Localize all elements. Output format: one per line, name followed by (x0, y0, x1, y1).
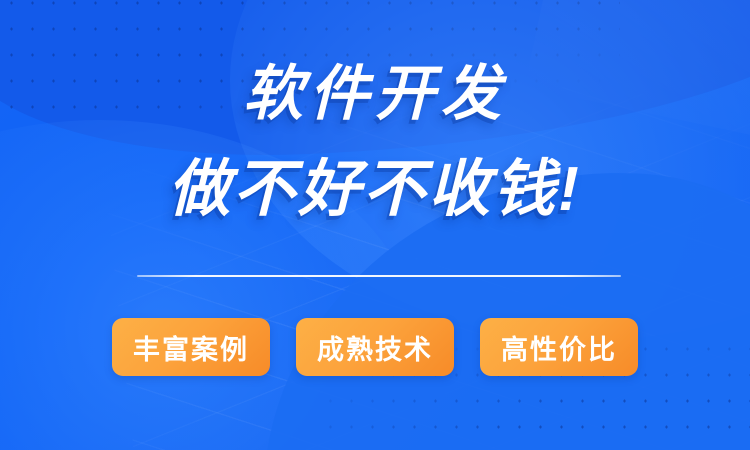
feature-tag-label: 丰富案例 (133, 328, 249, 367)
feature-tag-label: 高性价比 (501, 328, 617, 367)
banner-headline: 软件开发 (0, 62, 750, 125)
divider-line (137, 275, 621, 277)
banner-content: 软件开发 做不好不收钱! 丰富案例 成熟技术 高性价比 (0, 0, 750, 450)
feature-tag-label: 成熟技术 (317, 328, 433, 367)
feature-tag-high-value[interactable]: 高性价比 (480, 318, 638, 376)
feature-tag-mature-technology[interactable]: 成熟技术 (296, 318, 454, 376)
feature-tag-list: 丰富案例 成熟技术 高性价比 (0, 318, 750, 376)
feature-tag-rich-cases[interactable]: 丰富案例 (112, 318, 270, 376)
promo-banner: 软件开发 做不好不收钱! 丰富案例 成熟技术 高性价比 (0, 0, 750, 450)
banner-subheadline: 做不好不收钱! (0, 157, 750, 222)
